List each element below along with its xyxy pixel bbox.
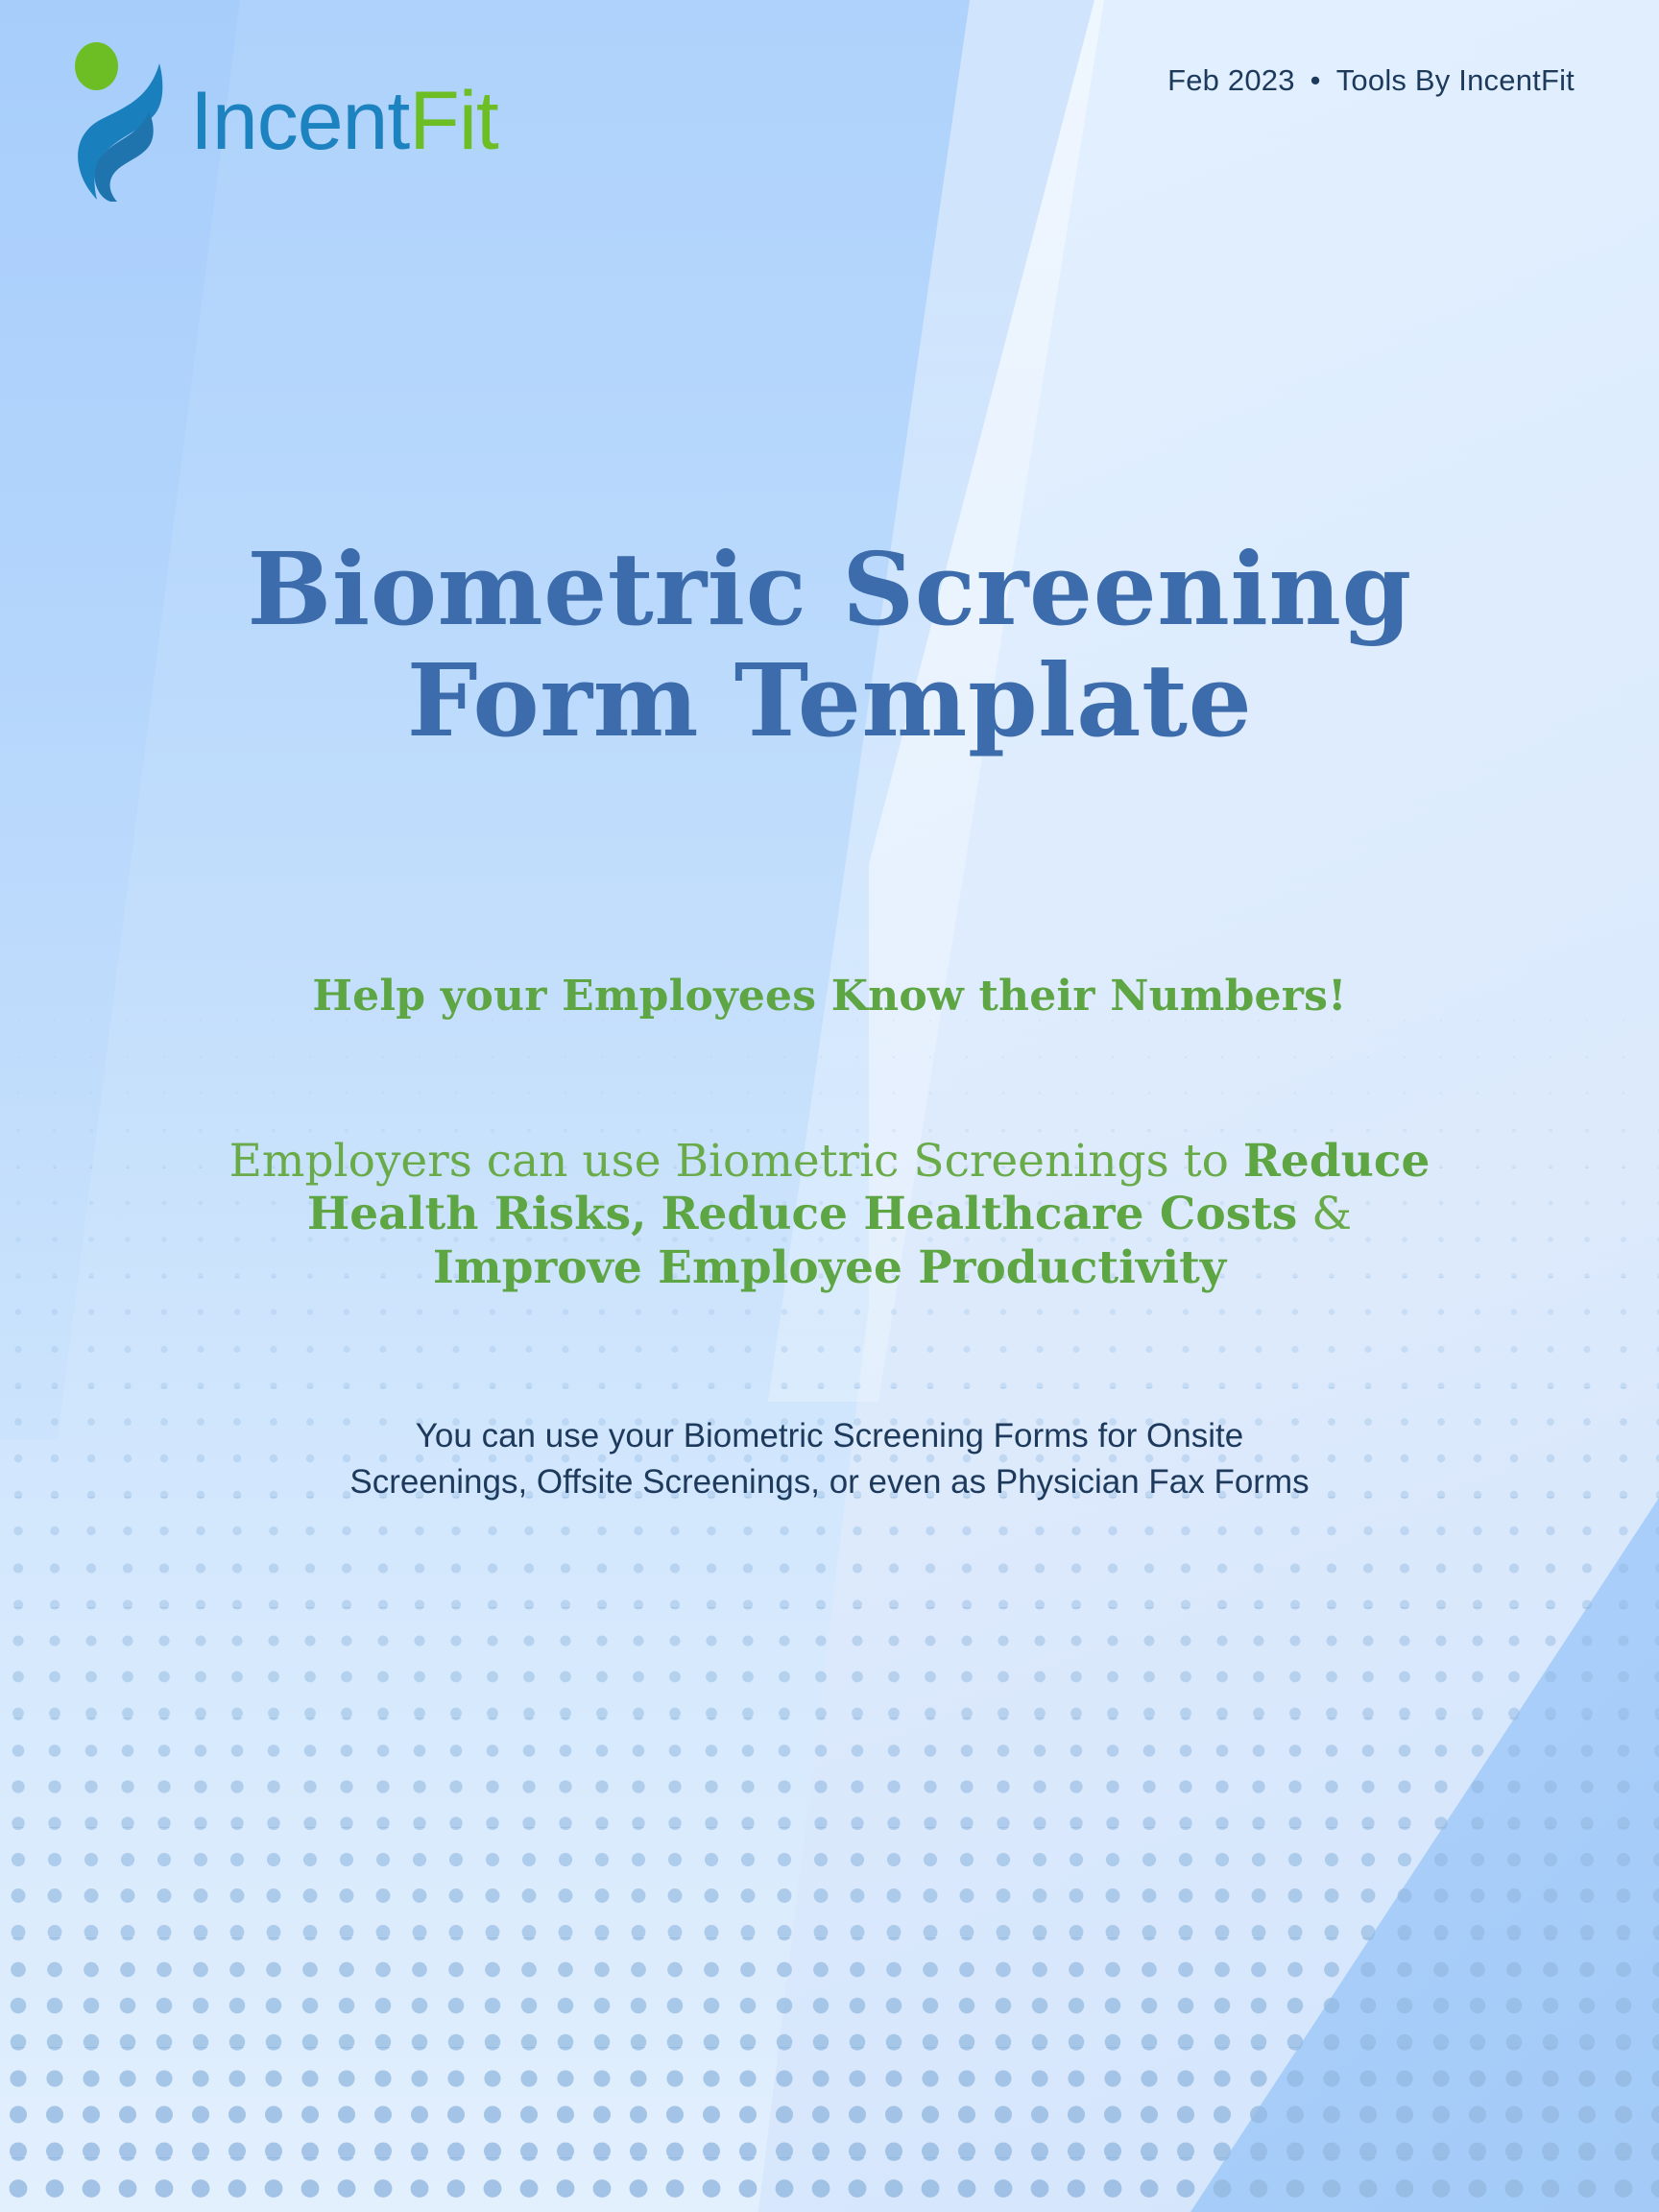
background-wedge-left	[0, 0, 1659, 2212]
background-corner-accent	[0, 0, 1659, 2212]
page-title-line-1: Biometric Screening	[173, 534, 1486, 645]
brand-wordmark: IncentFit	[190, 80, 498, 162]
page-title-line-2: Form Template	[173, 645, 1486, 757]
halftone-dot-band	[0, 1607, 1659, 1663]
halftone-dot-band	[0, 1772, 1659, 1828]
halftone-dot-band	[0, 1057, 1659, 1113]
page-title-block: Biometric Screening Form Template	[0, 534, 1659, 757]
pitch-lead: Employers can use Biometric Screenings t…	[229, 1135, 1229, 1188]
header-meta: Feb 2023•Tools By IncentFit	[1167, 63, 1575, 98]
wordmark-fit: Fit	[409, 75, 498, 167]
page-header: IncentFit Feb 2023•Tools By IncentFit	[0, 0, 1659, 240]
halftone-dot-band	[0, 1937, 1659, 1993]
halftone-dot-band	[0, 1718, 1659, 1773]
halftone-dot-band	[0, 1497, 1659, 1552]
halftone-dot-band	[0, 1333, 1659, 1388]
incentfit-figure-logo-icon	[67, 40, 180, 202]
page-title: Biometric Screening Form Template	[0, 534, 1659, 757]
halftone-dot-band	[0, 2047, 1659, 2103]
usage-description: You can use your Biometric Screening For…	[245, 1413, 1414, 1505]
halftone-dot-band	[0, 2157, 1659, 2212]
halftone-dot-band	[0, 1827, 1659, 1883]
background-wedge-right	[0, 0, 1659, 2212]
brand-logo[interactable]: IncentFit	[67, 40, 498, 202]
usage-line-1: You can use your Biometric Screening For…	[245, 1413, 1414, 1459]
pitch-benefit-2: Reduce Healthcare Costs	[661, 1188, 1297, 1240]
value-proposition: Employers can use Biometric Screenings t…	[221, 1135, 1438, 1294]
wordmark-incent: Incent	[190, 75, 409, 167]
usage-line-2: Screenings, Offsite Screenings, or even …	[245, 1459, 1414, 1505]
halftone-dot-band	[0, 1552, 1659, 1608]
background-wedge-highlight	[0, 0, 1659, 2212]
halftone-dot-band	[0, 1992, 1659, 2048]
publication-date: Feb 2023	[1167, 63, 1295, 97]
background-decoration	[0, 0, 1659, 2212]
halftone-dot-band	[0, 1662, 1659, 1718]
cover-page: IncentFit Feb 2023•Tools By IncentFit Bi…	[0, 0, 1659, 2212]
halftone-dot-band	[0, 2102, 1659, 2157]
meta-separator-dot: •	[1295, 63, 1336, 98]
halftone-dot-band	[0, 1882, 1659, 1937]
tagline: Help your Employees Know their Numbers!	[0, 972, 1659, 1021]
pitch-benefit-3: Improve Employee Productivity	[433, 1241, 1226, 1294]
pitch-conjunction: &	[1311, 1188, 1352, 1240]
publication-attribution: Tools By IncentFit	[1336, 63, 1575, 97]
